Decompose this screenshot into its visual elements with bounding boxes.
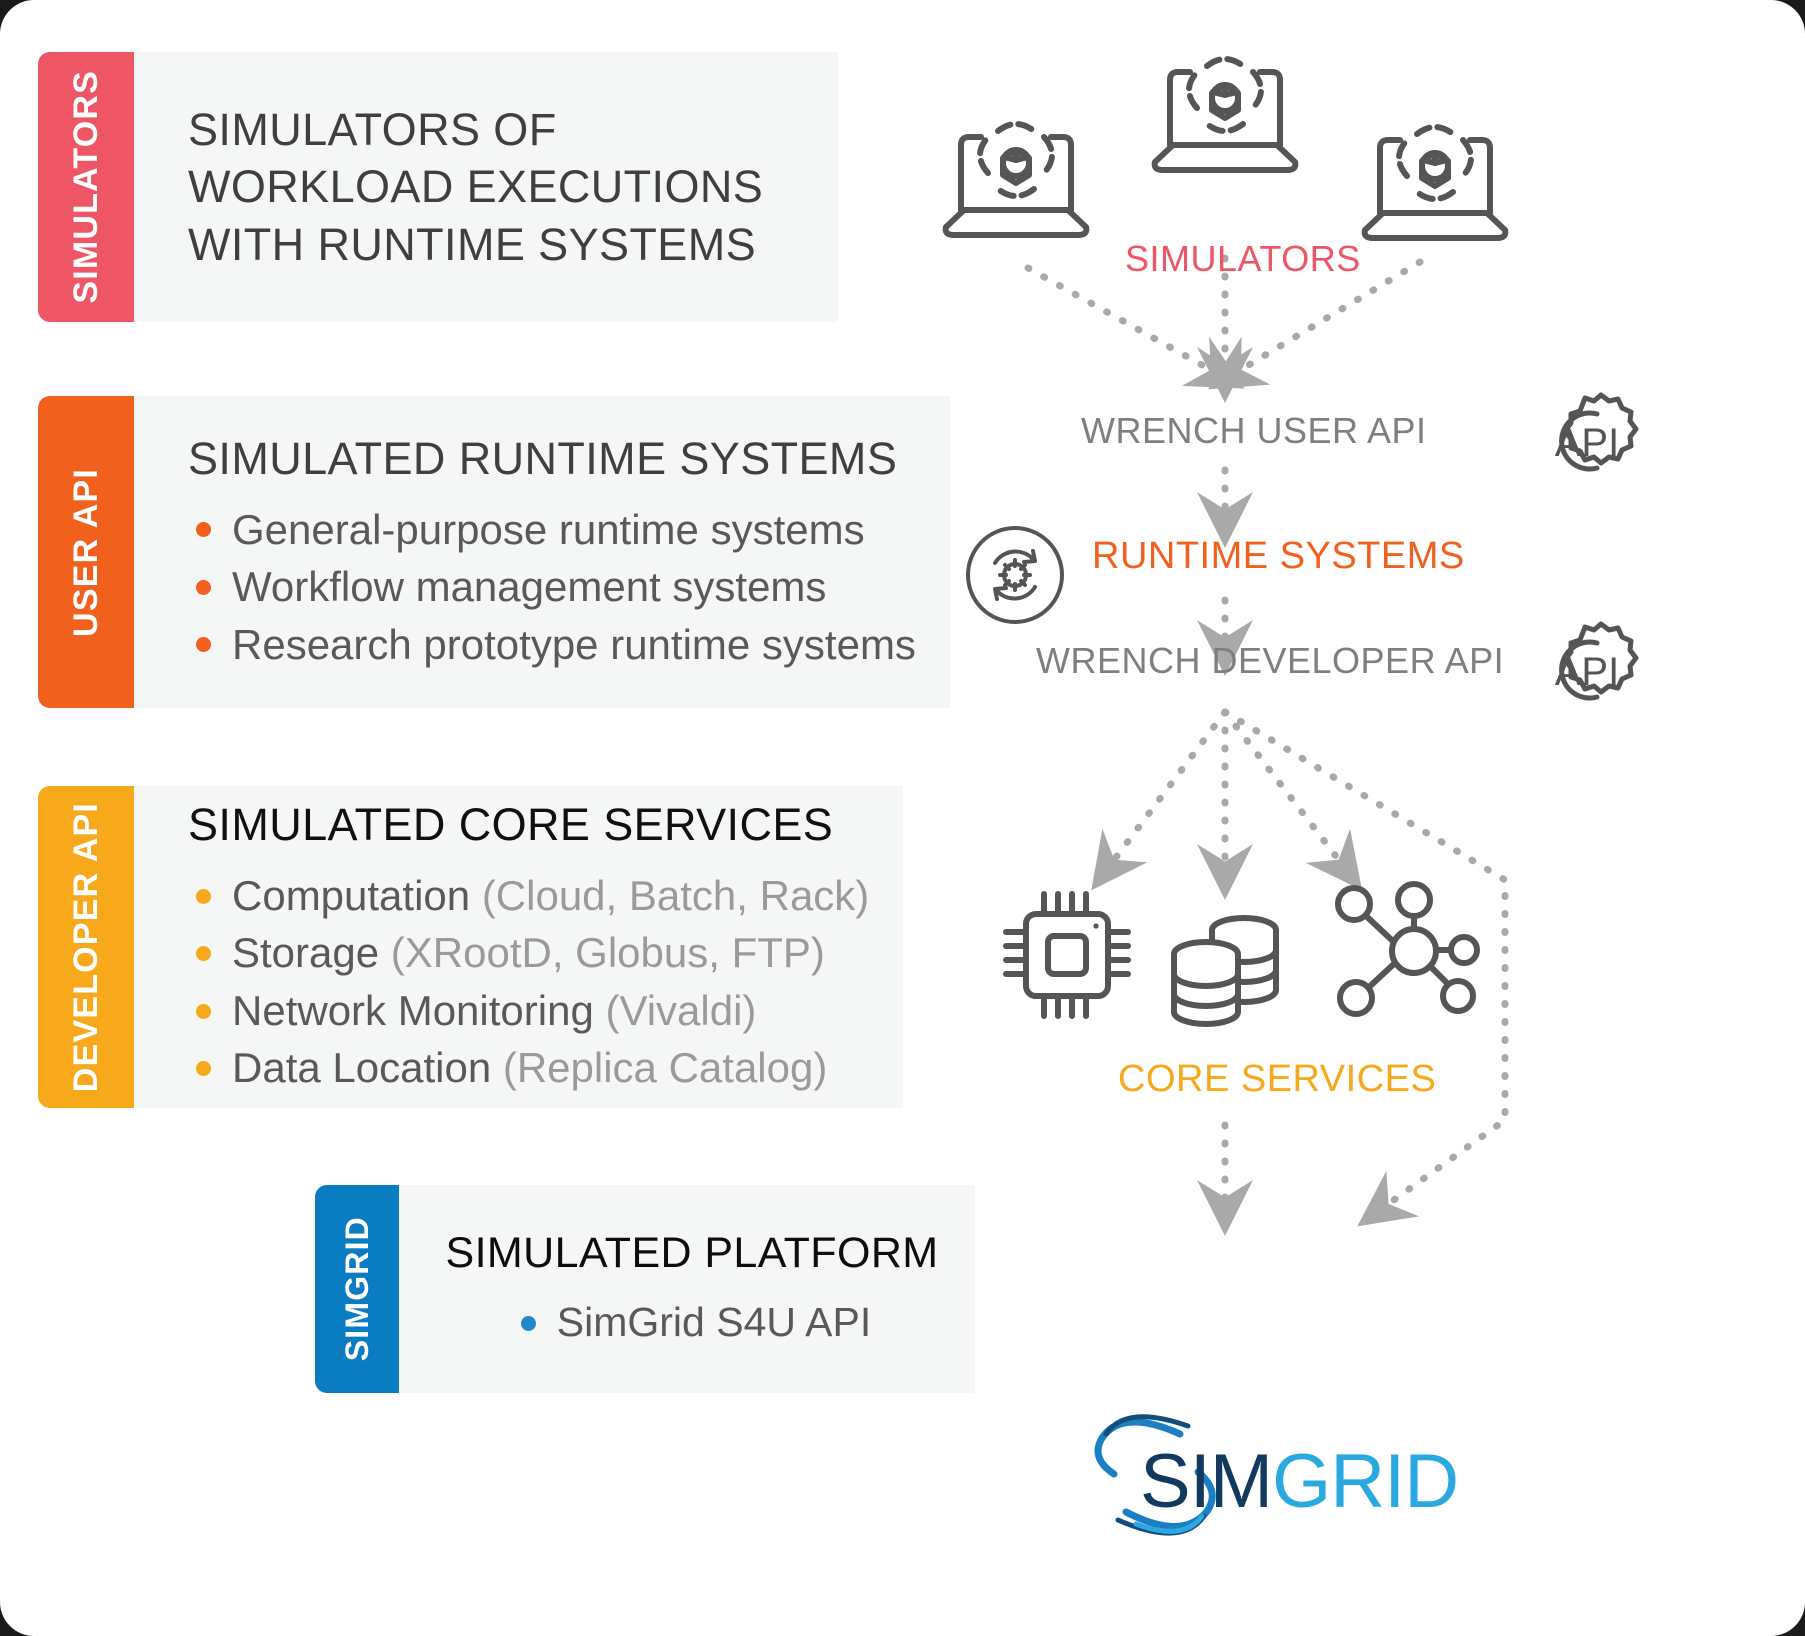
- bullet-text: Data Location: [232, 1044, 503, 1091]
- bullet-dot-icon: [196, 580, 211, 595]
- simgrid-wordmark-grid: GRID: [1272, 1439, 1458, 1524]
- gear-api-icon: API: [1525, 615, 1645, 730]
- layer-tab-label: SIMULATORS: [67, 70, 106, 304]
- layer-bullet-list: General-purpose runtime systems Workflow…: [188, 502, 916, 674]
- layer-panel-simulators: SIMULATORS SIMULATORS OF WORKLOAD EXECUT…: [38, 52, 838, 322]
- api-badge-text: API: [1555, 421, 1619, 465]
- layer-title: SIMULATED PLATFORM: [446, 1226, 939, 1281]
- bullet-dot-icon: [196, 889, 211, 904]
- flow-label-core-services: CORE SERVICES: [1118, 1058, 1436, 1101]
- layer-body-simgrid: SIMULATED PLATFORM SimGrid S4U API: [399, 1185, 975, 1393]
- bullet-dot-icon: [196, 1004, 211, 1019]
- bullet-text: Storage: [232, 929, 391, 976]
- layer-title: SIMULATED RUNTIME SYSTEMS: [188, 430, 916, 488]
- cpu-chip-icon: [992, 880, 1142, 1035]
- layer-panel-user-api: USER API SIMULATED RUNTIME SYSTEMS Gener…: [38, 396, 910, 708]
- gear-api-icon: API: [1525, 386, 1645, 501]
- bullet-dot-icon: [196, 637, 211, 652]
- layer-tab-label: SIMGRID: [339, 1216, 376, 1361]
- simgrid-logo: SIMGRID: [1088, 1400, 1418, 1550]
- bullet-subtext: (Cloud, Batch, Rack): [482, 872, 869, 919]
- list-item: Workflow management systems: [188, 559, 916, 614]
- list-item: Research prototype runtime systems: [188, 617, 916, 672]
- bullet-dot-icon: [196, 1061, 211, 1076]
- bullet-dot-icon: [521, 1316, 536, 1331]
- list-item: Data Location (Replica Catalog): [188, 1040, 869, 1095]
- bullet-text: General-purpose runtime systems: [232, 506, 865, 553]
- list-item: SimGrid S4U API: [513, 1295, 871, 1349]
- bullet-text: Research prototype runtime systems: [232, 621, 916, 668]
- simulator-laptop-icon: [926, 105, 1106, 250]
- simgrid-wordmark: SIMGRID: [1140, 1438, 1458, 1525]
- layer-body-developer-api: SIMULATED CORE SERVICES Computation (Clo…: [134, 786, 903, 1108]
- layer-tab-developer-api: DEVELOPER API: [38, 786, 134, 1108]
- simulator-laptop-icon: [1345, 108, 1525, 253]
- bullet-dot-icon: [196, 522, 211, 537]
- bullet-subtext: (Replica Catalog): [503, 1044, 827, 1091]
- gear-cycle-icon: [955, 515, 1075, 640]
- bullet-text: SimGrid S4U API: [557, 1299, 871, 1345]
- database-stack-icon: [1152, 908, 1302, 1053]
- bullet-text: Workflow management systems: [232, 563, 826, 610]
- bullet-text: Computation: [232, 872, 482, 919]
- flow-label-wrench-user-api: WRENCH USER API: [1081, 410, 1427, 452]
- layer-tab-label: DEVELOPER API: [67, 802, 106, 1092]
- bullet-dot-icon: [196, 946, 211, 961]
- simulator-laptop-icon: [1135, 40, 1315, 185]
- layer-panel-developer-api: DEVELOPER API SIMULATED CORE SERVICES Co…: [38, 786, 872, 1108]
- diagram-canvas: SIMULATORS SIMULATORS OF WORKLOAD EXECUT…: [0, 0, 1805, 1636]
- bullet-subtext: (XRootD, Globus, FTP): [391, 929, 825, 976]
- flow-label-runtime-systems: RUNTIME SYSTEMS: [1092, 535, 1465, 578]
- flow-label-simulators: SIMULATORS: [1125, 238, 1361, 280]
- api-badge-text: API: [1555, 650, 1619, 694]
- layer-tab-simulators: SIMULATORS: [38, 52, 134, 322]
- layer-tab-user-api: USER API: [38, 396, 134, 708]
- layer-bullet-list: Computation (Cloud, Batch, Rack) Storage…: [188, 868, 869, 1098]
- list-item: Network Monitoring (Vivaldi): [188, 983, 869, 1038]
- simgrid-wordmark-sim: SIM: [1140, 1439, 1272, 1524]
- layer-bullet-list: SimGrid S4U API: [513, 1295, 871, 1351]
- layer-tab-simgrid: SIMGRID: [315, 1185, 399, 1393]
- list-item: General-purpose runtime systems: [188, 502, 916, 557]
- bullet-text: Network Monitoring: [232, 987, 605, 1034]
- network-nodes-icon: [1320, 872, 1480, 1027]
- layer-title: SIMULATED CORE SERVICES: [188, 796, 869, 854]
- flow-label-wrench-developer-api: WRENCH DEVELOPER API: [1036, 640, 1504, 682]
- layer-panel-simgrid: SIMGRID SIMULATED PLATFORM SimGrid S4U A…: [315, 1185, 975, 1393]
- list-item: Storage (XRootD, Globus, FTP): [188, 925, 869, 980]
- layer-body-user-api: SIMULATED RUNTIME SYSTEMS General-purpos…: [134, 396, 950, 708]
- layer-tab-label: USER API: [67, 468, 106, 637]
- bullet-subtext: (Vivaldi): [605, 987, 756, 1034]
- list-item: Computation (Cloud, Batch, Rack): [188, 868, 869, 923]
- layer-title: SIMULATORS OF WORKLOAD EXECUTIONS WITH R…: [188, 101, 804, 274]
- flow-diagram: SIMULATORS WRENCH USER API API: [920, 0, 1805, 1636]
- layer-body-simulators: SIMULATORS OF WORKLOAD EXECUTIONS WITH R…: [134, 52, 838, 322]
